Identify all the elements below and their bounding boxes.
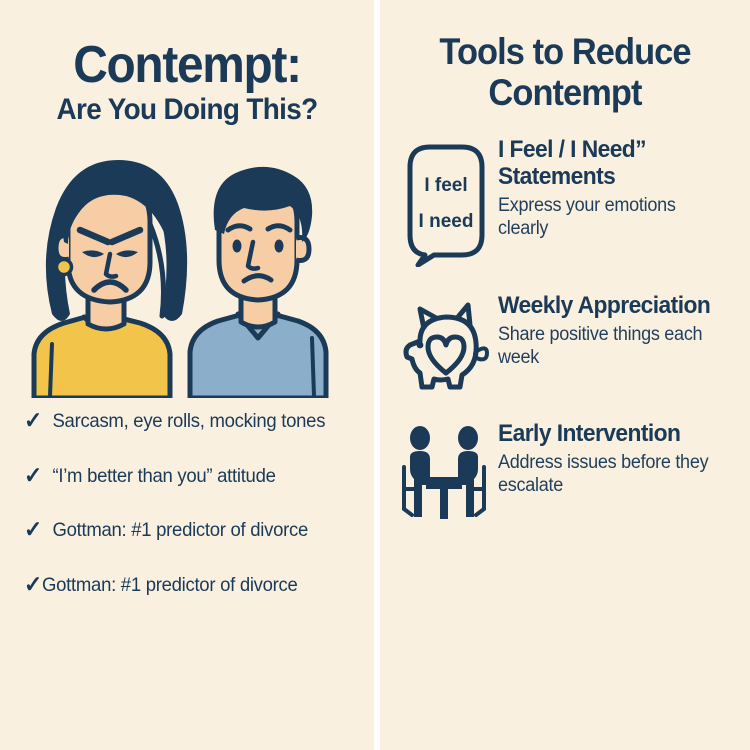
list-item-label: Gottman: #1 predictor of divorce <box>42 574 339 597</box>
speech-bubble-shape <box>410 147 482 265</box>
tool-description: Address issues before they escalate <box>498 451 720 497</box>
page-title: Contempt: <box>32 0 343 92</box>
list-item: ✓ “I’m better than you” attitude <box>24 465 339 488</box>
list-item: ✓ Sarcasm, eye rolls, mocking tones <box>24 410 339 433</box>
list-item-label: “I’m better than you” attitude <box>52 465 339 488</box>
list-item-label: Sarcasm, eye rolls, mocking tones <box>52 410 339 433</box>
speech-bubble-icon: I feel I need <box>400 139 492 267</box>
bubble-line-1: I feel <box>424 175 467 196</box>
check-icon: ✓ <box>24 518 42 541</box>
list-item: Early Intervention Address issues before… <box>398 421 732 529</box>
contempt-checklist: ✓ Sarcasm, eye rolls, mocking tones ✓ “I… <box>18 410 356 597</box>
list-item: ✓ Gottman: #1 predictor of divorce <box>24 519 339 542</box>
man-eye-right <box>275 240 284 253</box>
page-subtitle: Are You Doing This? <box>30 94 344 126</box>
list-item-label: Gottman: #1 predictor of divorce <box>52 519 339 542</box>
infographic-root: Contempt: Are You Doing This? <box>0 0 750 750</box>
left-panel: Contempt: Are You Doing This? <box>0 0 374 750</box>
tool-text-wrap: Weekly Appreciation Share positive thing… <box>494 293 732 369</box>
tools-list: I feel I need I Feel / I Need” Statement… <box>398 137 732 529</box>
tool-text-wrap: I Feel / I Need” Statements Express your… <box>494 137 732 240</box>
check-icon: ✓ <box>24 573 42 596</box>
man-sleeve-crease <box>312 338 314 396</box>
piggy-heart <box>428 337 464 373</box>
unhappy-couple-illustration <box>22 138 352 398</box>
two-people-at-table-icon <box>400 423 492 529</box>
couple-illustration-wrap <box>18 138 356 398</box>
piggy-eye <box>417 342 424 349</box>
bubble-line-2: I need <box>419 211 474 232</box>
tool-icon-wrap <box>398 421 494 529</box>
piggy-bank-heart-icon <box>400 295 492 395</box>
tool-icon-wrap: I feel I need <box>398 137 494 267</box>
tool-icon-wrap <box>398 293 494 395</box>
person-right-head <box>458 426 478 450</box>
tools-title: Tools to Reduce Contempt <box>410 0 721 113</box>
right-panel: Tools to Reduce Contempt I feel I need I… <box>380 0 750 750</box>
check-icon: ✓ <box>24 464 42 487</box>
piggy-tail <box>475 349 487 360</box>
tool-description: Share positive things each week <box>498 323 720 369</box>
tool-description: Express your emotions clearly <box>498 194 720 240</box>
woman-sleeve-crease <box>50 344 52 396</box>
woman-earring <box>57 260 72 275</box>
tool-title: I Feel / I Need” Statements <box>498 137 720 191</box>
list-item: Weekly Appreciation Share positive thing… <box>398 293 732 395</box>
table <box>426 483 462 519</box>
person-left-head <box>410 426 430 450</box>
tool-title: Weekly Appreciation <box>498 293 720 320</box>
check-icon: ✓ <box>24 409 42 432</box>
man-eye-left <box>233 240 242 253</box>
tool-text-wrap: Early Intervention Address issues before… <box>494 421 732 497</box>
list-item: ✓ Gottman: #1 predictor of divorce <box>24 574 339 597</box>
list-item: I feel I need I Feel / I Need” Statement… <box>398 137 732 267</box>
tool-title: Early Intervention <box>498 421 720 448</box>
